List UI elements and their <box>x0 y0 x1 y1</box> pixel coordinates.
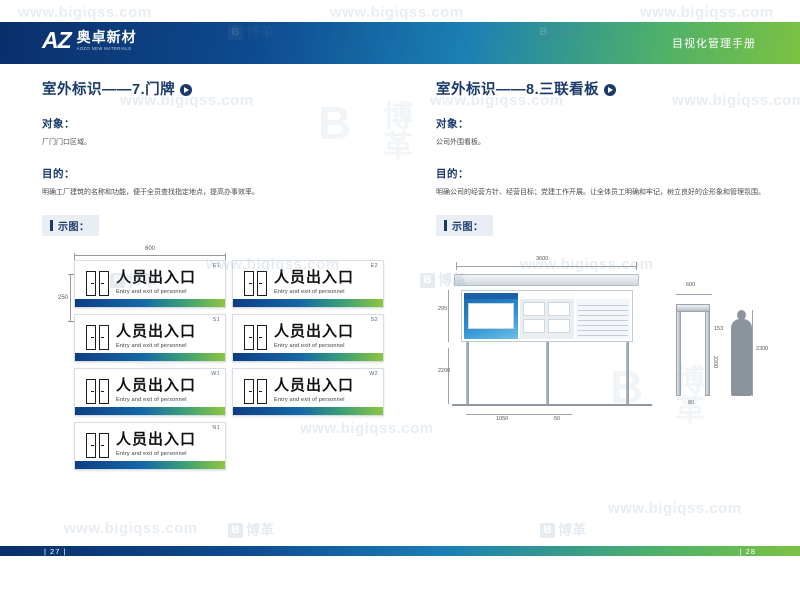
plate-row: N1 人员出入口 Entry and exit of personnel <box>74 422 384 470</box>
plate-en-text: Entry and exit of personnel <box>116 451 196 457</box>
plate-en-text: Entry and exit of personnel <box>274 343 354 349</box>
right-section-title: 室外标识——8.三联看板 <box>436 78 766 99</box>
double-door-icon <box>86 271 109 296</box>
plate-cn-text: 人员出入口 <box>116 324 196 341</box>
gate-side-right <box>705 304 710 396</box>
dim-board-top: 295 <box>438 306 447 312</box>
panel-image <box>468 303 514 329</box>
play-icon <box>180 84 192 96</box>
door-plate-s1: S1 人员出入口 Entry and exit of personnel <box>74 314 226 362</box>
plate-color-strip <box>75 299 225 307</box>
plate-text: 人员出入口 Entry and exit of personnel <box>274 378 354 403</box>
page-number-left: | 27 | <box>44 547 66 556</box>
right-section-title-text: 室外标识——8.三联看板 <box>436 78 599 99</box>
double-door-icon <box>244 325 267 350</box>
billboard-base <box>452 404 652 406</box>
dim-base-depth: 80 <box>688 400 694 406</box>
right-object-label: 对象： <box>436 116 766 131</box>
dim-height-value: 250 <box>58 295 68 301</box>
dim-gate-width: 600 <box>686 282 695 288</box>
right-object-text: 公司外围看板。 <box>436 138 766 149</box>
billboard-panel-1 <box>464 293 518 339</box>
page-root: AZ 奥卓新材 AOZO NEW MATERIALS 目视化管理手册 室外标识—… <box>0 0 800 600</box>
billboard-roof <box>454 274 639 286</box>
billboard-panels <box>461 290 633 342</box>
panel-cell <box>548 302 570 316</box>
dim-height-line <box>448 348 449 404</box>
plate-body: 人员出入口 Entry and exit of personnel <box>75 322 225 352</box>
footer-bar <box>0 546 800 556</box>
plate-text: 人员出入口 Entry and exit of personnel <box>274 324 354 349</box>
plate-text: 人员出入口 Entry and exit of personnel <box>274 270 354 295</box>
left-column: 室外标识——7.门牌 对象： 厂门门口区域。 目的： 明确工厂建筑的名称和功能，… <box>42 78 388 476</box>
left-example-label: 示图： <box>58 222 90 233</box>
billboard-leg <box>626 342 629 404</box>
play-icon <box>604 84 616 96</box>
watermark-text: www.bigiqss.com <box>640 4 774 21</box>
panel-header <box>576 293 630 299</box>
door-plate-n1: N1 人员出入口 Entry and exit of personnel <box>74 422 226 470</box>
double-door-icon <box>86 379 109 404</box>
double-door-icon <box>244 271 267 296</box>
plate-cn-text: 人员出入口 <box>274 270 354 287</box>
right-purpose-text: 明确公司的经营方针、经营目标；党建工作开展。让全体员工明确和牢记，树立良好的企形… <box>436 188 766 199</box>
dim-gate-width-line <box>676 294 712 295</box>
dim-top-line <box>448 290 449 342</box>
plate-body: 人员出入口 Entry and exit of personnel <box>75 268 225 298</box>
watermark-logo-text: 博革 <box>246 520 274 540</box>
logo-cn-text: 奥卓新材 <box>77 30 137 45</box>
plate-en-text: Entry and exit of personnel <box>274 289 354 295</box>
dim-person-height: 2300 <box>756 346 768 352</box>
watermark-text: www.bigiqss.com <box>64 520 198 537</box>
plate-text: 人员出入口 Entry and exit of personnel <box>116 432 196 457</box>
plate-body: 人员出入口 Entry and exit of personnel <box>75 376 225 406</box>
panel-cell <box>548 319 570 333</box>
chip-bar-icon <box>444 220 447 231</box>
panel-header <box>520 293 574 299</box>
plate-color-strip <box>233 353 383 361</box>
dim-bottom-a: 1050 <box>496 416 508 422</box>
plate-en-text: Entry and exit of personnel <box>274 397 354 403</box>
plate-row: W1 人员出入口 Entry and exit of personnel W2 <box>74 368 384 416</box>
gate-top <box>676 304 710 312</box>
plate-en-text: Entry and exit of personnel <box>116 289 196 295</box>
plate-cn-text: 人员出入口 <box>274 378 354 395</box>
left-object-text: 厂门门口区域。 <box>42 138 388 149</box>
plate-en-text: Entry and exit of personnel <box>116 343 196 349</box>
billboard-diagram: 3600 <box>436 248 766 478</box>
watermark-logo-box: B <box>420 273 435 288</box>
plate-color-strip <box>75 461 225 469</box>
dim-height-line <box>70 274 71 322</box>
chip-bar-icon <box>50 220 53 231</box>
right-example-label: 示图： <box>452 222 484 233</box>
security-gate <box>676 304 710 396</box>
logo-mark: AZ <box>42 29 71 52</box>
gate-side-left <box>676 304 681 396</box>
door-plate-w1: W1 人员出入口 Entry and exit of personnel <box>74 368 226 416</box>
logo-en-text: AOZO NEW MATERIALS <box>77 47 137 51</box>
plate-cn-text: 人员出入口 <box>116 270 196 287</box>
plate-color-strip <box>233 299 383 307</box>
dim-board-height: 2200 <box>438 368 450 374</box>
left-purpose-label: 目的： <box>42 166 388 181</box>
right-purpose-label: 目的： <box>436 166 766 181</box>
dim-gate-inner: 153 <box>714 326 723 332</box>
company-logo: AZ 奥卓新材 AOZO NEW MATERIALS <box>42 29 137 52</box>
left-section-title-text: 室外标识——7.门牌 <box>42 78 175 99</box>
page-header: AZ 奥卓新材 AOZO NEW MATERIALS 目视化管理手册 <box>0 22 800 64</box>
dim-bottom-line-b <box>546 414 572 415</box>
dim-board-width-line <box>456 266 636 267</box>
dim-tick <box>456 262 457 270</box>
watermark-logo-text: 博革 <box>558 520 586 540</box>
watermark-text: www.bigiqss.com <box>608 500 742 517</box>
panel-cell <box>523 302 545 316</box>
plate-cn-text: 人员出入口 <box>274 324 354 341</box>
plate-text: 人员出入口 Entry and exit of personnel <box>116 324 196 349</box>
dim-bottom-line-a <box>466 414 546 415</box>
plate-row: S1 人员出入口 Entry and exit of personnel S2 <box>74 314 384 362</box>
door-plate-diagram: 600 250 E1 人员出入口 Entry and e <box>42 246 388 470</box>
plate-color-strip <box>233 407 383 415</box>
left-example-chip: 示图： <box>42 215 99 236</box>
door-plate-e1: E1 人员出入口 Entry and exit of personnel <box>74 260 226 308</box>
dim-tick <box>636 262 637 270</box>
dim-height-left: 250 <box>58 274 68 322</box>
plate-body: 人员出入口 Entry and exit of personnel <box>233 268 383 298</box>
left-object-label: 对象： <box>42 116 388 131</box>
plate-cn-text: 人员出入口 <box>116 378 196 395</box>
dim-bottom-b: 50 <box>554 416 560 422</box>
plate-color-strip <box>75 407 225 415</box>
page-number-right: | 28 <box>740 547 756 556</box>
dim-board-width: 3600 <box>536 256 548 262</box>
watermark-logo: B 博革 <box>228 520 274 540</box>
door-plate-e2: E2 人员出入口 Entry and exit of personnel <box>232 260 384 308</box>
plate-body: 人员出入口 Entry and exit of personnel <box>75 430 225 460</box>
left-purpose-text: 明确工厂建筑的名称和功能，便于全员查找指定地点，提高办事效率。 <box>42 188 388 199</box>
watermark-logo: B 博革 <box>540 520 586 540</box>
double-door-icon <box>244 379 267 404</box>
watermark-logo-box: B <box>228 523 243 538</box>
right-column: 室外标识——8.三联看板 对象： 公司外围看板。 目的： 明确公司的经营方针、经… <box>436 78 766 478</box>
plate-color-strip <box>75 353 225 361</box>
panel-header <box>464 293 518 299</box>
dim-gate-height: 2200 <box>712 356 718 368</box>
watermark-logo-box: B <box>540 523 555 538</box>
door-plate-w2: W2 人员出入口 Entry and exit of personnel <box>232 368 384 416</box>
billboard-panel-3 <box>576 293 630 339</box>
watermark-text: www.bigiqss.com <box>330 4 464 21</box>
plate-body: 人员出入口 Entry and exit of personnel <box>233 376 383 406</box>
plate-text: 人员出入口 Entry and exit of personnel <box>116 378 196 403</box>
panel-cell <box>523 319 545 333</box>
right-example-chip: 示图： <box>436 215 493 236</box>
billboard-leg <box>546 342 549 404</box>
door-plate-grid: E1 人员出入口 Entry and exit of personnel E2 <box>74 246 384 470</box>
left-section-title: 室外标识——7.门牌 <box>42 78 388 99</box>
plate-cn-text: 人员出入口 <box>116 432 196 449</box>
header-title: 目视化管理手册 <box>672 35 756 51</box>
figure-body <box>731 319 752 396</box>
door-plate-s2: S2 人员出入口 Entry and exit of personnel <box>232 314 384 362</box>
billboard-panel-2 <box>520 293 574 339</box>
plate-body: 人员出入口 Entry and exit of personnel <box>233 322 383 352</box>
plate-row: E1 人员出入口 Entry and exit of personnel E2 <box>74 260 384 308</box>
plate-en-text: Entry and exit of personnel <box>116 397 196 403</box>
dim-person-line <box>752 310 753 396</box>
double-door-icon <box>86 325 109 350</box>
plate-text: 人员出入口 Entry and exit of personnel <box>116 270 196 295</box>
double-door-icon <box>86 433 109 458</box>
human-scale-figure <box>728 310 754 396</box>
billboard-leg <box>466 342 469 404</box>
watermark-text: www.bigiqss.com <box>18 4 152 21</box>
